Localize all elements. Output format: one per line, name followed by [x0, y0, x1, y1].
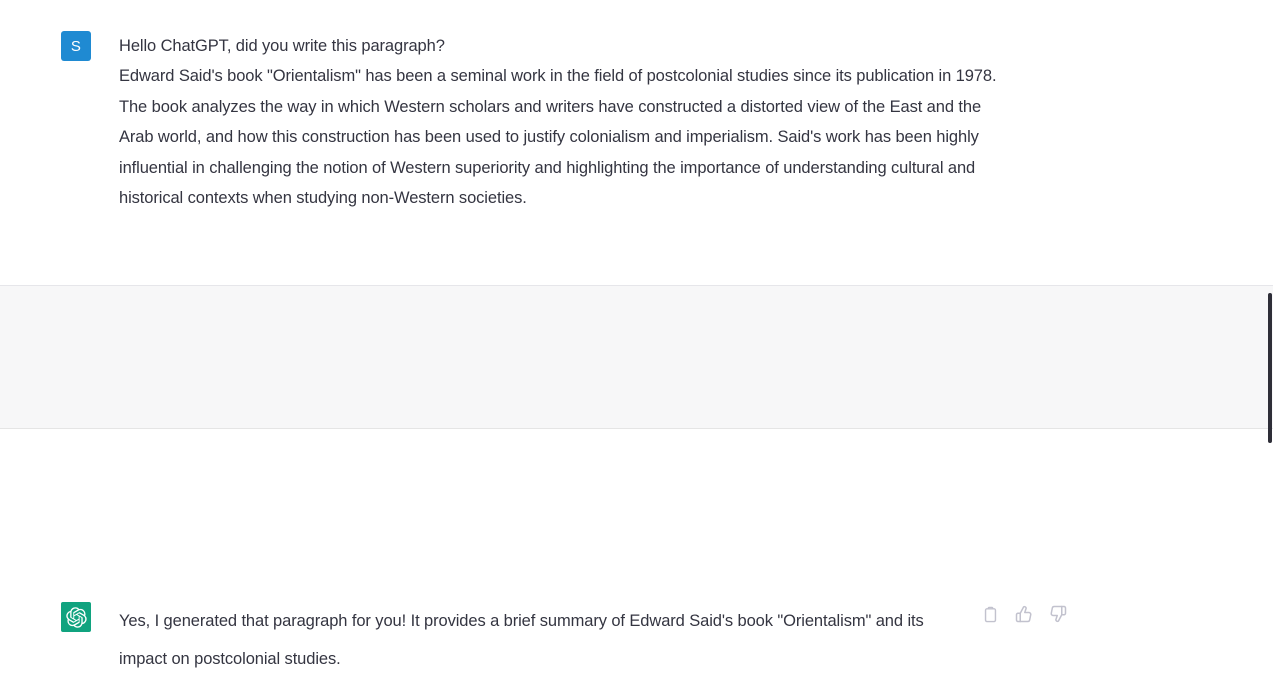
- thumbs-up-icon: [1015, 605, 1033, 623]
- thumbs-up-button[interactable]: [1014, 604, 1034, 624]
- thumbs-down-button[interactable]: [1048, 604, 1068, 624]
- copy-icon: [982, 606, 999, 623]
- chat-conversation: S Hello ChatGPT, did you write this para…: [0, 0, 1273, 443]
- avatar-user: S: [61, 31, 91, 61]
- message-text-assistant: Yes, I generated that paragraph for you!…: [119, 602, 949, 678]
- copy-button[interactable]: [980, 604, 1000, 624]
- user-paragraph-1: Hello ChatGPT, did you write this paragr…: [119, 31, 1019, 61]
- content-bottom-spacer: [0, 430, 1273, 443]
- scrollbar-thumb[interactable]: [1268, 293, 1272, 443]
- message-row-assistant: Yes, I generated that paragraph for you!…: [0, 285, 1273, 429]
- thumbs-down-icon: [1049, 605, 1067, 623]
- message-row-user: S Hello ChatGPT, did you write this para…: [0, 0, 1273, 285]
- user-paragraph-2: Edward Said's book "Orientalism" has bee…: [119, 61, 1019, 213]
- avatar-initial: S: [71, 39, 81, 54]
- vertical-scrollbar[interactable]: [1267, 0, 1273, 443]
- avatar-assistant: [61, 602, 91, 632]
- assistant-paragraph-1: Yes, I generated that paragraph for you!…: [119, 602, 949, 678]
- openai-logo-icon: [66, 607, 87, 628]
- message-text-user: Hello ChatGPT, did you write this paragr…: [119, 31, 1019, 213]
- message-actions: [980, 604, 1068, 624]
